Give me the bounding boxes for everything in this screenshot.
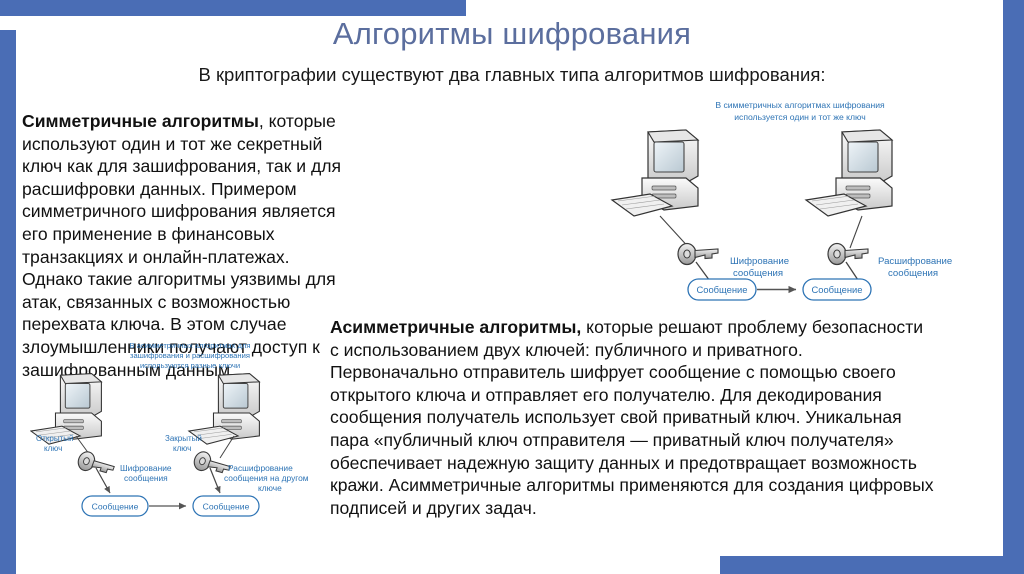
node-message-left: Сообщение <box>688 279 756 300</box>
diagram-asymmetric-encryption: В асимметричных алгоритмах для зашифрова… <box>30 338 340 528</box>
diagram2-caption-line2: зашифрования и расшифрования <box>130 351 250 360</box>
computer-icon-left <box>612 130 698 216</box>
computer-icon-right <box>806 130 892 216</box>
label-decrypt2-line2: сообщения на другом <box>224 473 309 483</box>
node-message-left: Сообщение <box>82 496 148 516</box>
label-decrypt-line1: Расшифрование <box>878 256 952 267</box>
slide: Алгоритмы шифрования В криптографии суще… <box>0 0 1024 574</box>
label-private-key-line2: ключ <box>173 444 191 453</box>
label-decrypt-line2: сообщения <box>888 268 938 279</box>
decor-bar-top <box>0 0 466 16</box>
label-encrypt-line2: сообщения <box>733 268 783 279</box>
diagram2-caption-line1: В асимметричных алгоритмах для <box>129 341 250 350</box>
page-title: Алгоритмы шифрования <box>0 16 1024 52</box>
body-asymmetric: которые решают проблему безопасности с и… <box>330 317 934 518</box>
diagram-symmetric-encryption: В симметричных алгоритмах шифрования исп… <box>600 96 1000 302</box>
diagram-caption-line2: используется один и тот же ключ <box>734 112 866 122</box>
label-private-key-line1: Закрытый <box>165 434 202 443</box>
key-icon-right <box>828 244 868 265</box>
label-encrypt2-line2: сообщения <box>124 473 168 483</box>
label-decrypt2-line3: ключе <box>258 483 282 493</box>
label-decrypt2-line1: Расшифрование <box>228 463 293 473</box>
label-public-key-line1: Открытый <box>36 434 73 443</box>
node-message-right: Сообщение <box>803 279 871 300</box>
key-icon-left <box>678 244 718 265</box>
lead-paragraph: В криптографии существуют два главных ти… <box>0 64 1024 86</box>
label-encrypt2-line1: Шифрование <box>120 463 172 473</box>
heading-asymmetric: Асимметричные алгоритмы, <box>330 317 581 337</box>
decor-bar-left <box>0 30 16 574</box>
diagram2-caption-line3: используются разные ключи <box>140 361 240 370</box>
svg-text:Сообщение: Сообщение <box>203 502 250 512</box>
label-encrypt-line1: Шифрование <box>730 256 789 267</box>
svg-text:Сообщение: Сообщение <box>92 502 139 512</box>
key-icon-public <box>76 450 116 480</box>
label-public-key-line2: ключ <box>44 444 62 453</box>
diagram-caption-line1: В симметричных алгоритмах шифрования <box>715 100 885 110</box>
paragraph-asymmetric: Асимметричные алгоритмы, которые решают … <box>330 316 934 519</box>
decor-bar-bottom <box>720 556 1024 574</box>
node-message-right: Сообщение <box>193 496 259 516</box>
svg-text:Сообщение: Сообщение <box>696 284 747 295</box>
svg-text:Сообщение: Сообщение <box>811 284 862 295</box>
heading-symmetric: Симметричные алгоритмы <box>22 111 259 131</box>
